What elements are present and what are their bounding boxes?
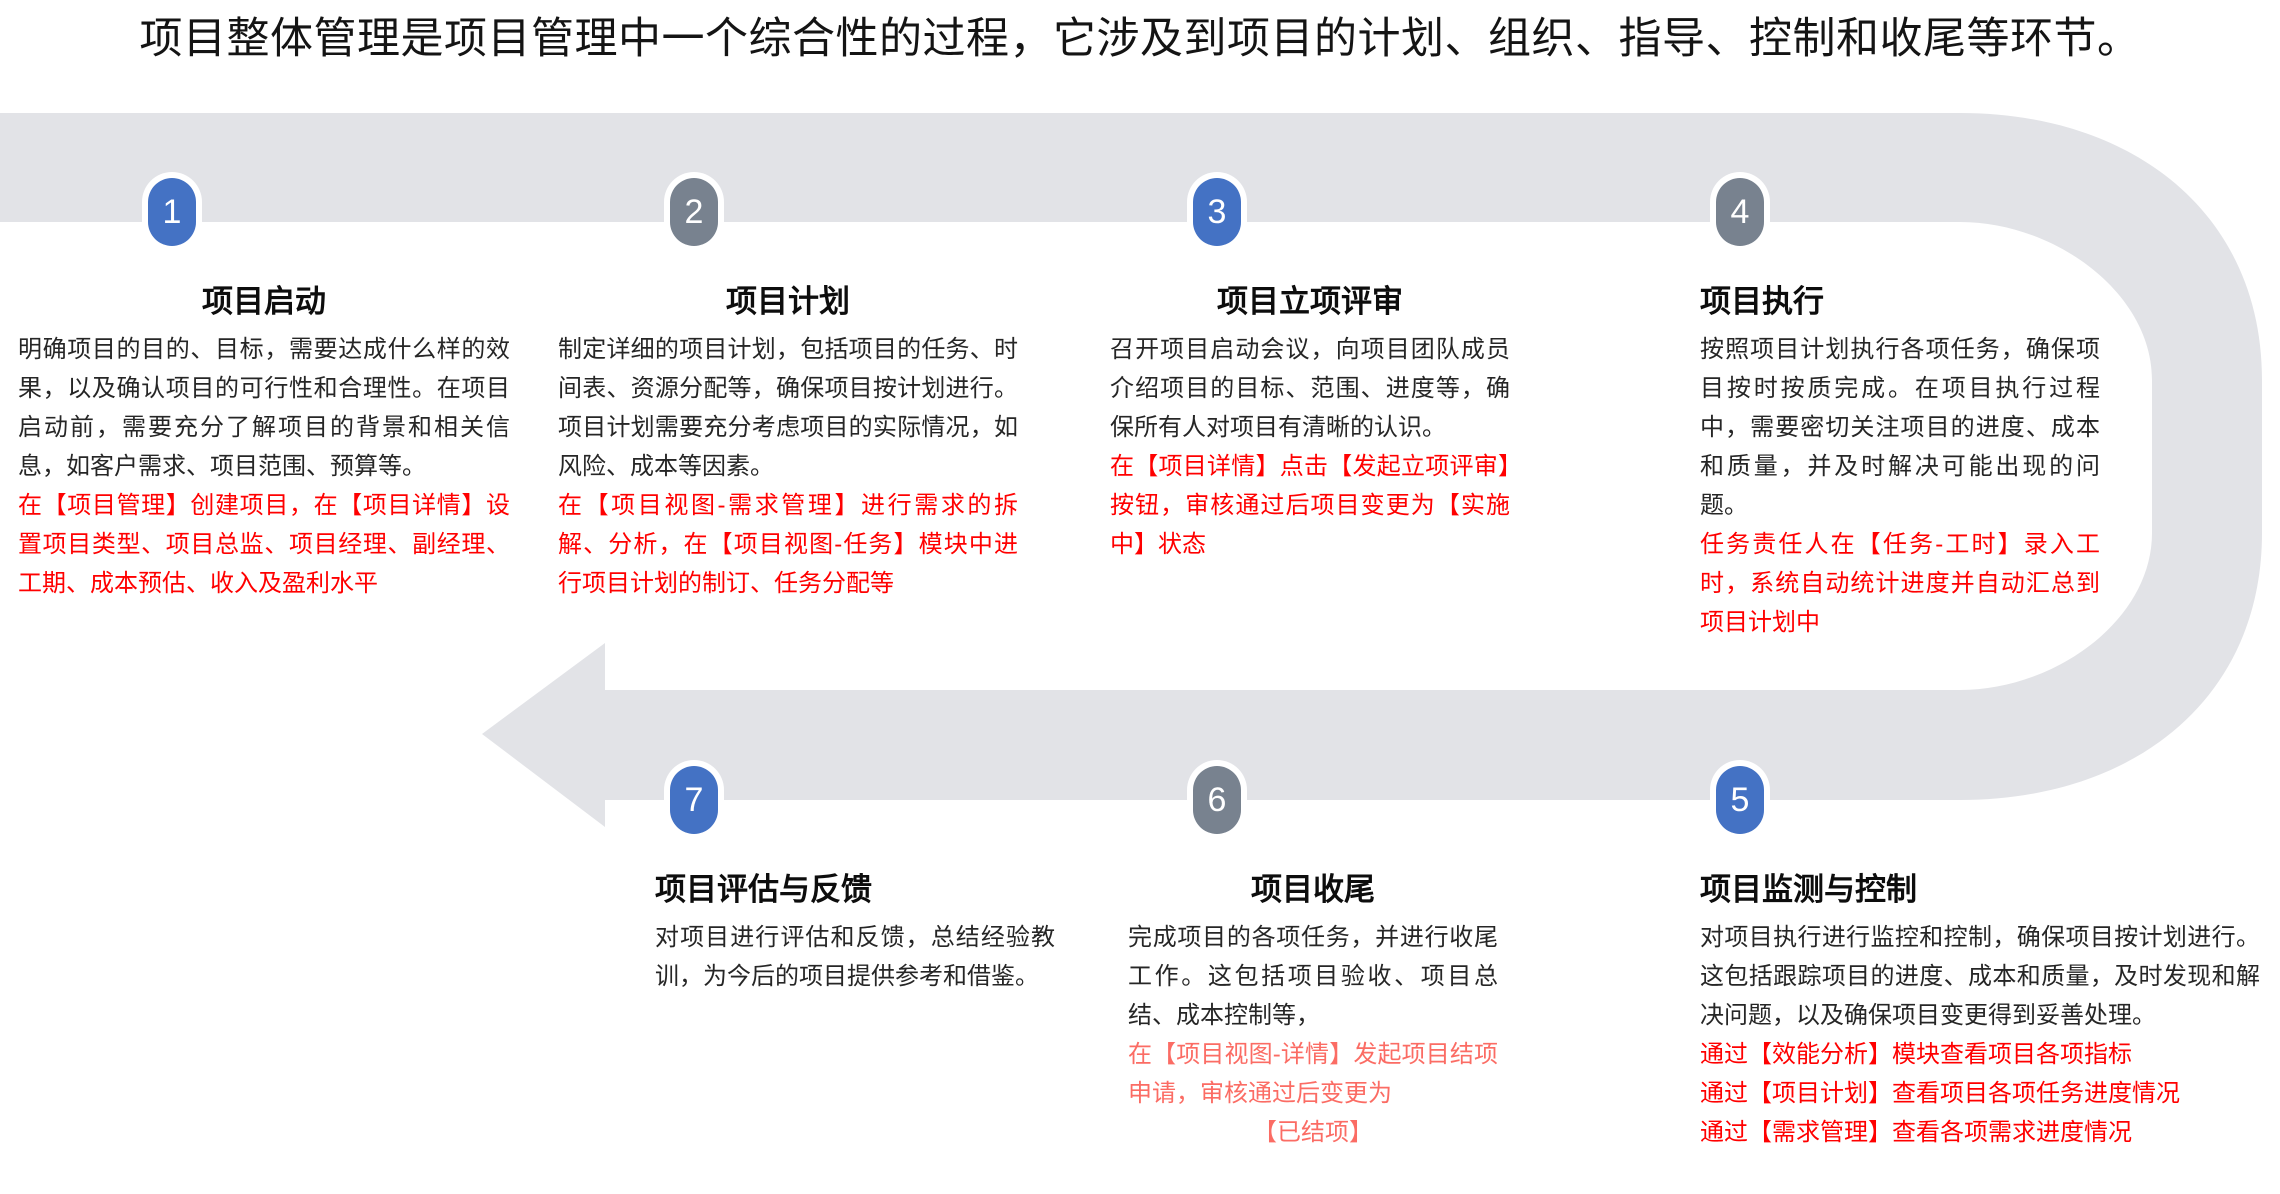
step-block-5: 项目监测与控制 对项目执行进行监控和控制，确保项目按计划进行。这包括跟踪项目的进… [1700, 870, 2260, 1152]
step-title-5: 项目监测与控制 [1700, 870, 2260, 910]
step-note-5-2: 通过【需求管理】查看各项需求进度情况 [1700, 1113, 2260, 1152]
step-note-4-0: 任务责任人在【任务-工时】录入工时，系统自动统计进度并自动汇总到项目计划中 [1700, 525, 2100, 642]
step-badge-6[interactable]: 6 [1193, 766, 1241, 834]
step-title-7: 项目评估与反馈 [655, 870, 1055, 910]
step-badge-4[interactable]: 4 [1716, 178, 1764, 246]
step-title-4: 项目执行 [1700, 282, 2100, 322]
step-title-6: 项目收尾 [1128, 870, 1498, 910]
step-body-5: 对项目执行进行监控和控制，确保项目按计划进行。这包括跟踪项目的进度、成本和质量，… [1700, 918, 2260, 1035]
step-badge-5[interactable]: 5 [1716, 766, 1764, 834]
step-body-1: 明确项目的目的、目标，需要达成什么样的效果，以及确认项目的可行性和合理性。在项目… [18, 330, 510, 486]
step-note-2-0: 在【项目视图-需求管理】进行需求的拆解、分析，在【项目视图-任务】模块中进行项目… [558, 486, 1018, 603]
step-badge-7[interactable]: 7 [670, 766, 718, 834]
step-block-7: 项目评估与反馈 对项目进行评估和反馈，总结经验教训，为今后的项目提供参考和借鉴。 [655, 870, 1055, 996]
step-body-4: 按照项目计划执行各项任务，确保项目按时按质完成。在项目执行过程中，需要密切关注项… [1700, 330, 2100, 525]
step-badge-2-number: 2 [685, 195, 704, 229]
step-block-6: 项目收尾 完成项目的各项任务，并进行收尾工作。这包括项目验收、项目总结、成本控制… [1128, 870, 1498, 1152]
step-note-6-1: 【已结项】 [1128, 1113, 1498, 1152]
step-block-4: 项目执行 按照项目计划执行各项任务，确保项目按时按质完成。在项目执行过程中，需要… [1700, 282, 2100, 642]
step-badge-2[interactable]: 2 [670, 178, 718, 246]
step-badge-6-number: 6 [1208, 783, 1227, 817]
step-title-3: 项目立项评审 [1110, 282, 1510, 322]
step-badge-1-number: 1 [163, 195, 182, 229]
step-note-6-0: 在【项目视图-详情】发起项目结项申请，审核通过后变更为 [1128, 1035, 1498, 1113]
step-body-3: 召开项目启动会议，向项目团队成员介绍项目的目标、范围、进度等，确保所有人对项目有… [1110, 330, 1510, 447]
step-block-1: 项目启动 明确项目的目的、目标，需要达成什么样的效果，以及确认项目的可行性和合理… [18, 282, 510, 603]
step-block-3: 项目立项评审 召开项目启动会议，向项目团队成员介绍项目的目标、范围、进度等，确保… [1110, 282, 1510, 564]
step-title-2: 项目计划 [558, 282, 1018, 322]
step-note-1-0: 在【项目管理】创建项目，在【项目详情】设置项目类型、项目总监、项目经理、副经理、… [18, 486, 510, 603]
step-badge-3-number: 3 [1208, 195, 1227, 229]
step-body-7: 对项目进行评估和反馈，总结经验教训，为今后的项目提供参考和借鉴。 [655, 918, 1055, 996]
step-block-2: 项目计划 制定详细的项目计划，包括项目的任务、时间表、资源分配等，确保项目按计划… [558, 282, 1018, 603]
step-note-3-0: 在【项目详情】点击【发起立项评审】按钮，审核通过后项目变更为【实施中】状态 [1110, 447, 1510, 564]
step-badge-5-number: 5 [1731, 783, 1750, 817]
step-title-1: 项目启动 [18, 282, 510, 322]
step-note-5-0: 通过【效能分析】模块查看项目各项指标 [1700, 1035, 2260, 1074]
step-note-5-1: 通过【项目计划】查看项目各项任务进度情况 [1700, 1074, 2260, 1113]
step-badge-4-number: 4 [1731, 195, 1750, 229]
step-body-6: 完成项目的各项任务，并进行收尾工作。这包括项目验收、项目总结、成本控制等， [1128, 918, 1498, 1035]
step-badge-7-number: 7 [685, 783, 704, 817]
step-badge-3[interactable]: 3 [1193, 178, 1241, 246]
step-badge-1[interactable]: 1 [148, 178, 196, 246]
step-body-2: 制定详细的项目计划，包括项目的任务、时间表、资源分配等，确保项目按计划进行。项目… [558, 330, 1018, 486]
page-title: 项目整体管理是项目管理中一个综合性的过程，它涉及到项目的计划、组织、指导、控制和… [0, 6, 2280, 72]
